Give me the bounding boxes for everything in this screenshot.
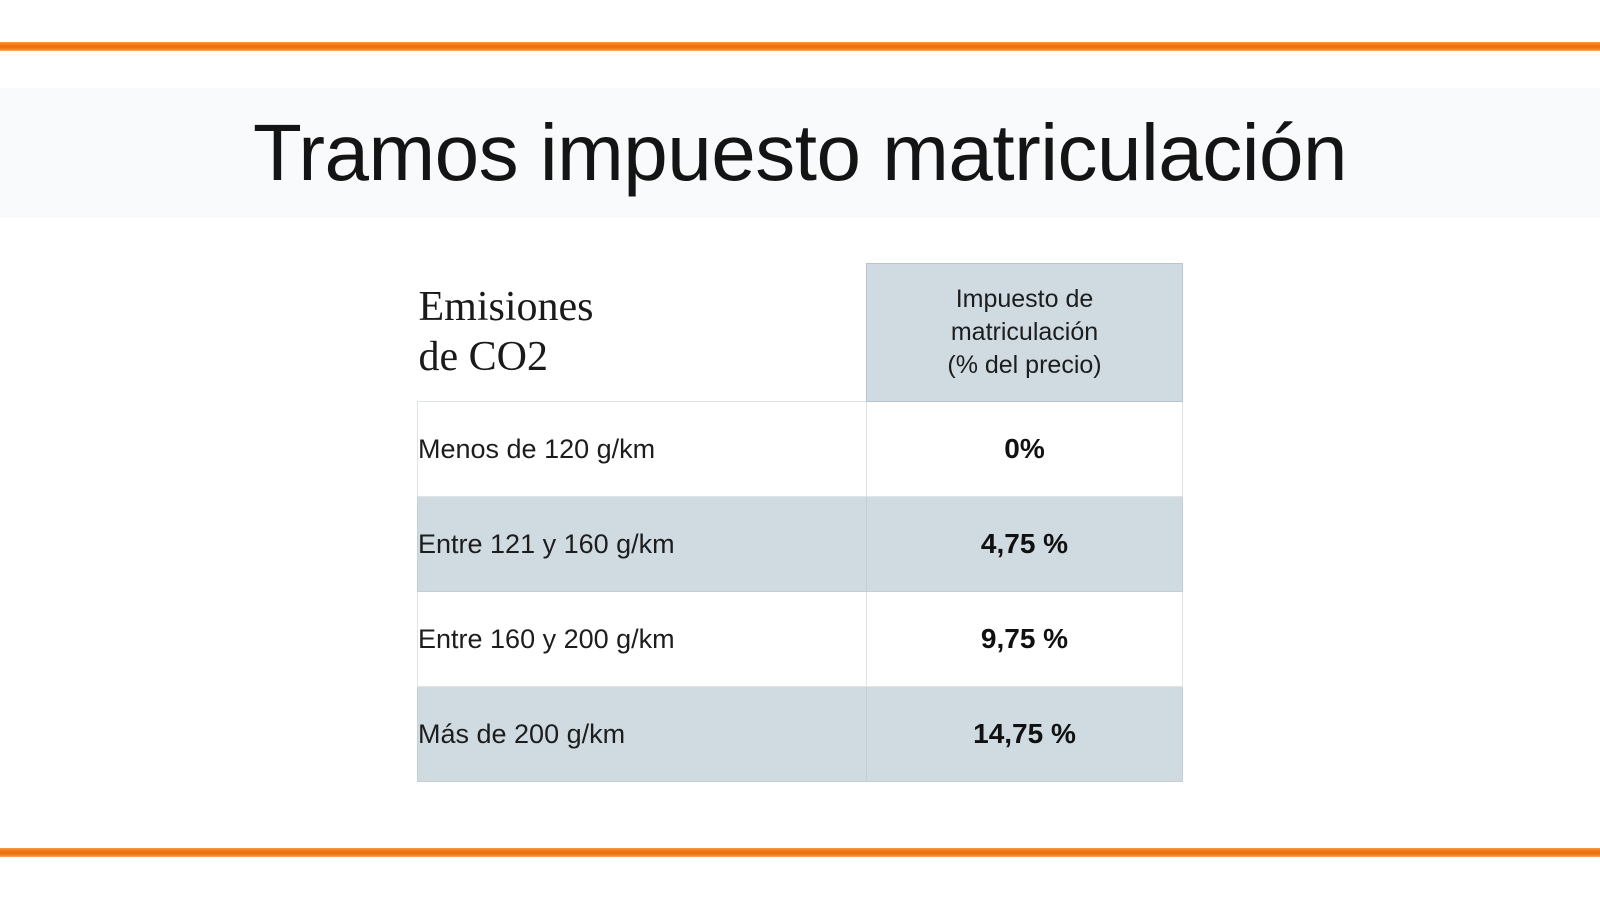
registration-tax-table: Emisiones de CO2 Impuesto de matriculaci… (417, 263, 1183, 782)
page-title: Tramos impuesto matriculación (0, 98, 1600, 208)
slide-canvas: Tramos impuesto matriculación Emisiones … (0, 0, 1600, 900)
table-head: Emisiones de CO2 Impuesto de matriculaci… (418, 264, 1183, 402)
cell-emissions: Menos de 120 g/km (418, 402, 867, 497)
table-row: Entre 160 y 200 g/km 9,75 % (418, 592, 1183, 687)
table-body: Menos de 120 g/km 0% Entre 121 y 160 g/k… (418, 402, 1183, 782)
table-row: Menos de 120 g/km 0% (418, 402, 1183, 497)
cell-tax: 14,75 % (867, 687, 1183, 782)
cell-emissions: Más de 200 g/km (418, 687, 867, 782)
column-header-tax-line1: Impuesto de (867, 283, 1182, 316)
column-header-emissions-line1: Emisiones (419, 282, 867, 332)
bottom-accent-rule (0, 848, 1600, 857)
cell-tax: 4,75 % (867, 497, 1183, 592)
column-header-tax-line3: (% del precio) (867, 349, 1182, 382)
cell-emissions: Entre 160 y 200 g/km (418, 592, 867, 687)
column-header-emissions-line2: de CO2 (419, 332, 867, 382)
cell-tax: 9,75 % (867, 592, 1183, 687)
table-row: Más de 200 g/km 14,75 % (418, 687, 1183, 782)
cell-tax: 0% (867, 402, 1183, 497)
cell-emissions: Entre 121 y 160 g/km (418, 497, 867, 592)
column-header-emissions-text: Emisiones de CO2 (418, 282, 867, 382)
table-row: Entre 121 y 160 g/km 4,75 % (418, 497, 1183, 592)
column-header-tax-line2: matriculación (867, 316, 1182, 349)
table-header-row: Emisiones de CO2 Impuesto de matriculaci… (418, 264, 1183, 402)
top-accent-rule (0, 42, 1600, 51)
column-header-tax: Impuesto de matriculación (% del precio) (867, 264, 1183, 402)
column-header-emissions: Emisiones de CO2 (418, 264, 867, 402)
